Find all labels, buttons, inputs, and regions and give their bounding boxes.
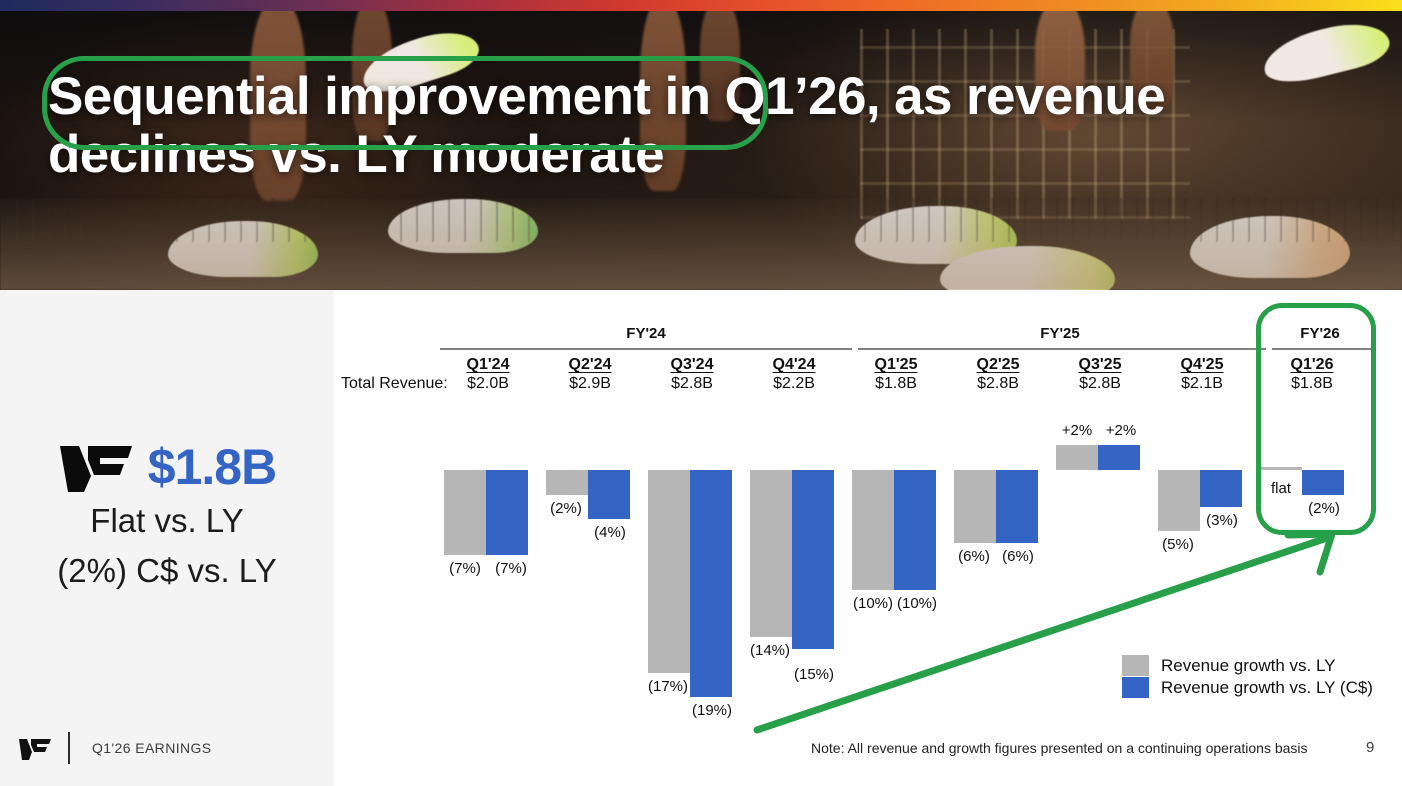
kpi-subtext-2: (2%) C$ vs. LY xyxy=(0,552,334,590)
bar-label-blue-q1-26: (2%) xyxy=(1296,500,1352,517)
hero-ground xyxy=(0,198,1402,290)
bar-blue-q4-25 xyxy=(1200,470,1242,507)
bar-label-grey-q1-26: flat xyxy=(1256,480,1306,497)
bar-chart: (7%) (7%) (2%) (4%) (17%) (19%) (14%) (1… xyxy=(334,290,1402,786)
bar-label-blue-q4-25: (3%) xyxy=(1196,512,1248,529)
bar-grey-q4-24 xyxy=(750,470,792,637)
legend-swatch-blue xyxy=(1122,677,1149,698)
legend-label: Revenue growth vs. LY xyxy=(1161,656,1336,676)
bar-label-blue-q3-24: (19%) xyxy=(684,702,740,719)
bar-blue-q3-24 xyxy=(690,470,732,697)
page-title: Sequential improvement in Q1’26, as reve… xyxy=(48,68,1368,184)
footer-divider xyxy=(68,732,70,764)
bar-label-blue-q3-25: +2% xyxy=(1096,422,1146,439)
bar-blue-q1-25 xyxy=(894,470,936,590)
bar-label-blue-q2-24: (4%) xyxy=(584,524,636,541)
bar-blue-q3-25 xyxy=(1098,445,1140,470)
footer-label: Q1'26 EARNINGS xyxy=(92,740,212,756)
bar-label-grey-q3-24: (17%) xyxy=(640,678,696,695)
bar-grey-q4-25 xyxy=(1158,470,1200,531)
bar-label-grey-q1-24: (7%) xyxy=(440,560,490,577)
kpi-value: $1.8B xyxy=(148,438,276,496)
kpi-headline: $1.8B xyxy=(0,438,334,496)
bar-label-blue-q1-24: (7%) xyxy=(486,560,536,577)
kpi-panel: $1.8B Flat vs. LY (2%) C$ vs. LY xyxy=(0,290,334,786)
bar-blue-q1-24 xyxy=(486,470,528,555)
brand-gradient-strip xyxy=(0,0,1402,11)
kpi-subtext-1: Flat vs. LY xyxy=(0,502,334,540)
bar-grey-q3-24 xyxy=(648,470,690,673)
bar-label-blue-q4-24: (15%) xyxy=(786,666,842,683)
bar-grey-q1-26 xyxy=(1260,467,1302,470)
chart-legend: Revenue growth vs. LY Revenue growth vs.… xyxy=(1122,655,1373,699)
bar-blue-q1-26 xyxy=(1302,470,1344,495)
bar-grey-q2-25 xyxy=(954,470,996,543)
legend-item: Revenue growth vs. LY xyxy=(1122,655,1373,676)
bar-blue-q2-24 xyxy=(588,470,630,519)
bar-blue-q2-25 xyxy=(996,470,1038,543)
legend-swatch-grey xyxy=(1122,655,1149,676)
bar-grey-q1-25 xyxy=(852,470,894,590)
bar-blue-q4-24 xyxy=(792,470,834,649)
bar-label-blue-q2-25: (6%) xyxy=(992,548,1044,565)
vf-logo-icon xyxy=(58,442,134,492)
bar-label-grey-q2-24: (2%) xyxy=(540,500,592,517)
bar-grey-q3-25 xyxy=(1056,445,1098,470)
bar-label-grey-q3-25: +2% xyxy=(1052,422,1102,439)
bar-grey-q2-24 xyxy=(546,470,588,495)
bar-grey-q1-24 xyxy=(444,470,486,555)
legend-item: Revenue growth vs. LY (C$) xyxy=(1122,677,1373,698)
bar-label-grey-q4-25: (5%) xyxy=(1152,536,1204,553)
quarterly-table: FY'24 FY'25 FY'26 Q1'24 Q2'24 Q3'24 Q4'2… xyxy=(334,290,1402,786)
bar-label-blue-q1-25: (10%) xyxy=(889,595,945,612)
bar-label-grey-q4-24: (14%) xyxy=(742,642,798,659)
legend-label: Revenue growth vs. LY (C$) xyxy=(1161,678,1373,698)
vf-logo-footer-icon xyxy=(18,737,52,760)
